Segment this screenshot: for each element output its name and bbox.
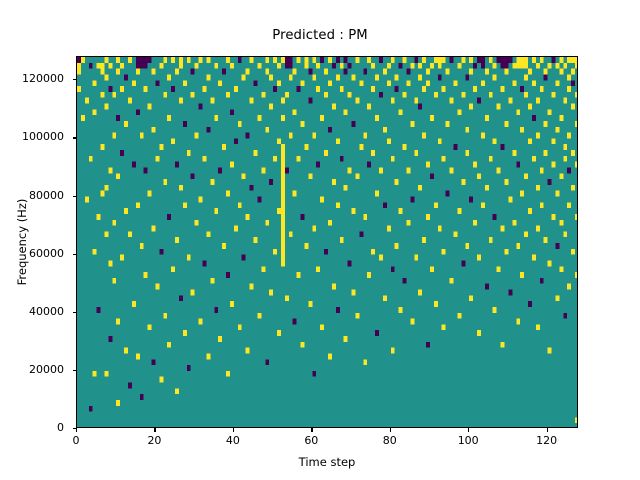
- y-tick-label: 20000: [0, 363, 64, 376]
- x-tick-mark: [311, 428, 312, 432]
- y-tick-mark: [73, 137, 77, 138]
- x-tick-mark: [76, 428, 77, 432]
- y-tick-label: 40000: [0, 305, 64, 318]
- matplotlib-figure: Predicted : PM 020406080100120 020000400…: [0, 0, 640, 480]
- x-tick-mark: [468, 428, 469, 432]
- x-tick-mark: [233, 428, 234, 432]
- x-tick-mark: [390, 428, 391, 432]
- x-tick-label: 0: [52, 434, 100, 447]
- heatmap-image: [77, 57, 578, 428]
- x-tick-label: 120: [523, 434, 571, 447]
- x-tick-label: 60: [287, 434, 335, 447]
- y-tick-mark: [73, 196, 77, 197]
- y-tick-label: 80000: [0, 189, 64, 202]
- y-tick-label: 100000: [0, 130, 64, 143]
- x-axis-label: Time step: [76, 455, 578, 469]
- x-tick-label: 100: [444, 434, 492, 447]
- x-tick-label: 20: [130, 434, 178, 447]
- chart-title: Predicted : PM: [0, 28, 640, 43]
- y-tick-mark: [73, 428, 77, 429]
- y-tick-label: 60000: [0, 247, 64, 260]
- y-tick-mark: [73, 312, 77, 313]
- y-tick-label: 120000: [0, 72, 64, 85]
- x-tick-mark: [154, 428, 155, 432]
- x-tick-label: 40: [209, 434, 257, 447]
- y-tick-mark: [73, 370, 77, 371]
- y-tick-label: 0: [0, 421, 64, 434]
- y-tick-mark: [73, 79, 77, 80]
- heatmap-plot-area[interactable]: [76, 56, 578, 428]
- x-tick-label: 80: [366, 434, 414, 447]
- x-tick-mark: [547, 428, 548, 432]
- y-tick-mark: [73, 254, 77, 255]
- y-axis-label: Frequency (Hz): [15, 142, 29, 342]
